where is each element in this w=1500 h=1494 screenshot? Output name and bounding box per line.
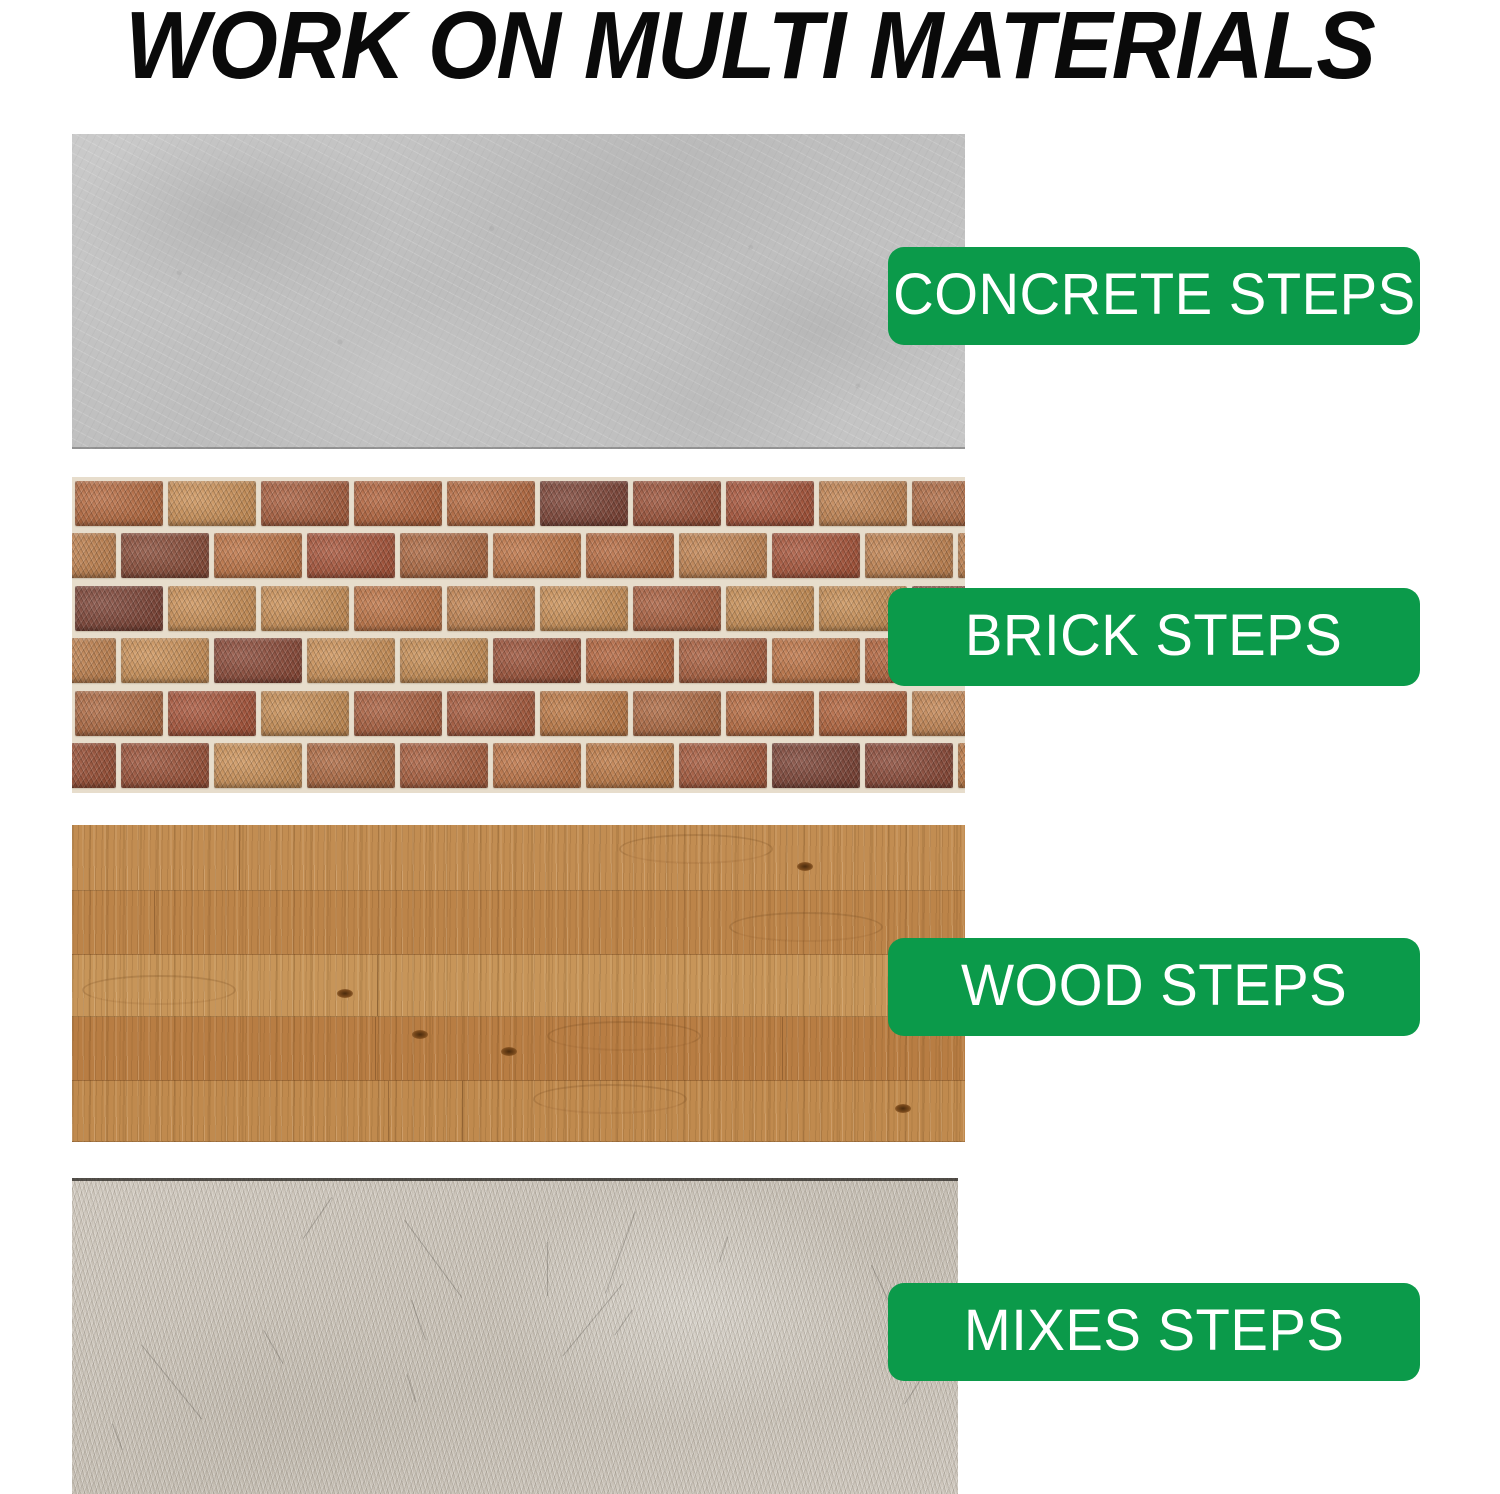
brick-tile [540,691,628,736]
badge-brick-steps: BRICK STEPS [888,588,1420,686]
brick-tile [633,586,721,631]
brick-tile [261,481,349,526]
plank-seam [377,955,378,1016]
brick-row [72,635,919,688]
brick-tile [168,586,256,631]
brick-tile [726,586,814,631]
stone-crack [140,1344,201,1419]
badge-wood-steps: WOOD STEPS [888,938,1420,1036]
stone-crack [302,1197,331,1239]
stone-crack [562,1284,623,1357]
brick-tile [493,533,581,578]
badge-brick-label: BRICK STEPS [965,602,1342,669]
brick-tile [772,533,860,578]
brick-tile [447,481,535,526]
brick-tile [75,691,163,736]
brick-tile [819,691,907,736]
wood-grain-swirl [547,1021,701,1051]
brick-tile [168,691,256,736]
brick-tile [726,691,814,736]
brick-tile [72,743,116,788]
brick-tile [865,743,953,788]
badge-wood-label: WOOD STEPS [961,952,1347,1019]
brick-tile [400,533,488,578]
brick-tile [214,638,302,683]
brick-row [72,477,965,530]
brick-tile [214,533,302,578]
brick-tile [679,743,767,788]
brick-tile [75,481,163,526]
brick-tile [121,638,209,683]
brick-row [72,582,965,635]
brick-tile [400,743,488,788]
wood-grain-swirl [619,834,773,864]
stone-crack [411,1300,426,1340]
wood-plank [72,955,965,1017]
brick-tile [586,533,674,578]
plank-seam [388,1081,389,1141]
brick-tile [72,533,116,578]
stone-crack [405,1220,463,1298]
wood-plank [72,1017,965,1081]
wood-knot [797,862,813,871]
brick-tile [958,533,965,578]
page-title: WORK ON MULTI MATERIALS [53,0,1448,98]
brick-tile [586,743,674,788]
badge-mixes-steps: MIXES STEPS [888,1283,1420,1381]
brick-tile [121,743,209,788]
wood-plank [72,1081,965,1142]
brick-tile [958,743,965,788]
plank-seam [782,1017,783,1080]
stone-crack [719,1236,729,1262]
stone-crack [407,1375,417,1403]
brick-tile [447,691,535,736]
brick-tile [679,533,767,578]
stone-crack [614,1309,633,1335]
brick-tile [679,638,767,683]
concrete-texture-swatch [72,134,965,449]
brick-tile [912,481,966,526]
brick-tile [586,638,674,683]
wood-knot [412,1030,428,1039]
brick-tile [447,586,535,631]
brick-tile [307,533,395,578]
brick-tile [75,586,163,631]
brick-row [72,530,919,583]
brick-tile [121,533,209,578]
wood-plank [72,891,965,955]
brick-tile [819,481,907,526]
wood-knot [895,1104,911,1113]
plank-seam [239,825,240,890]
wood-grain-swirl [533,1084,687,1114]
brick-tile [400,638,488,683]
brick-tile [307,743,395,788]
badge-concrete-steps: CONCRETE STEPS [888,247,1420,345]
stone-crack [547,1242,548,1296]
wood-knot [337,989,353,998]
brick-tile [493,743,581,788]
wood-grain-swirl [729,912,883,942]
plank-seam [375,1017,376,1080]
brick-tile [772,743,860,788]
infographic-page: WORK ON MULTI MATERIALS CONCRETE STEPS B… [0,0,1500,1494]
brick-tile [633,691,721,736]
brick-tile [493,638,581,683]
brick-tile [354,481,442,526]
wood-plank [72,825,965,891]
stone-crack [112,1424,123,1451]
brick-tile [726,481,814,526]
plank-seam [154,891,155,954]
badge-concrete-label: CONCRETE STEPS [893,261,1416,328]
brick-row [72,740,919,793]
brick-tile [261,691,349,736]
wood-knot [501,1047,517,1056]
brick-tile [214,743,302,788]
plank-seam [462,1081,463,1141]
brick-row [72,687,965,740]
badge-mixes-label: MIXES STEPS [964,1297,1345,1364]
brick-tile [865,533,953,578]
brick-tile [72,638,116,683]
brick-tile [912,691,966,736]
brick-tile [633,481,721,526]
wood-texture-swatch [72,825,965,1142]
brick-tile [354,586,442,631]
brick-texture-swatch [72,477,965,793]
stone-crack [605,1211,636,1293]
stone-crack [263,1331,283,1365]
brick-tile [540,586,628,631]
brick-tile [261,586,349,631]
stone-texture-swatch [72,1178,958,1494]
brick-tile [772,638,860,683]
brick-tile [354,691,442,736]
brick-tile [168,481,256,526]
brick-tile [307,638,395,683]
brick-tile [540,481,628,526]
wood-grain-swirl [82,975,236,1005]
